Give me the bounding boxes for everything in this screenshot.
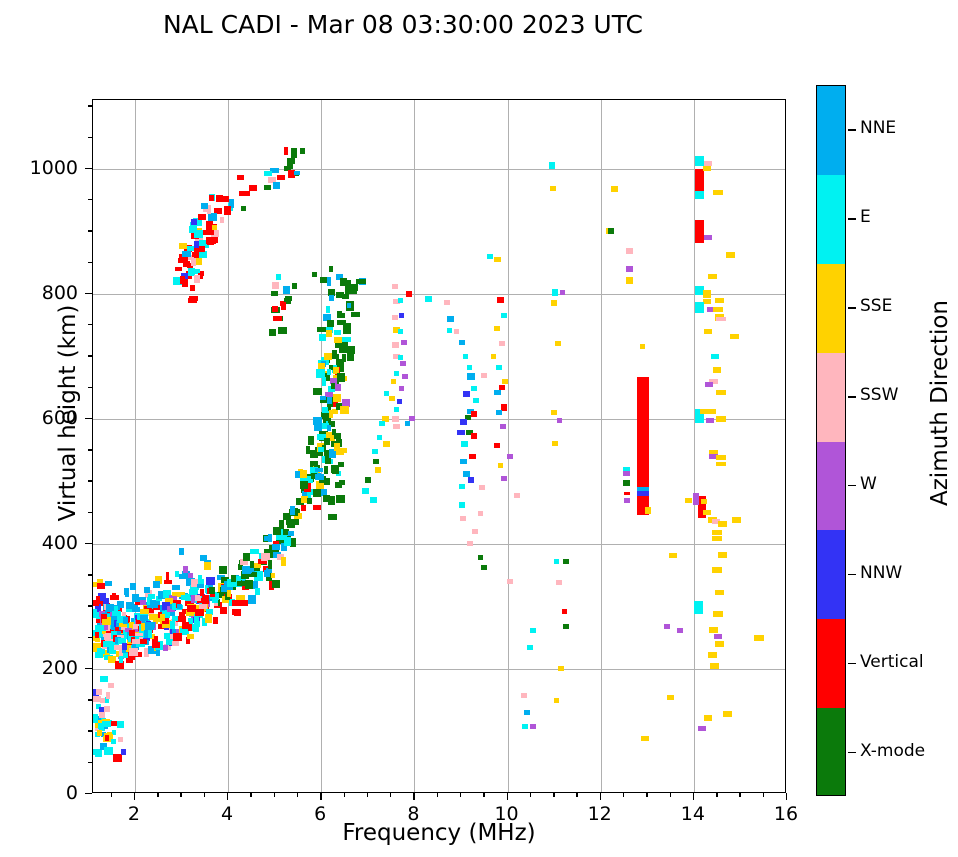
- data-point: [99, 712, 105, 718]
- y-tick: [88, 355, 92, 356]
- x-tick: [763, 793, 764, 797]
- data-point: [129, 648, 138, 656]
- data-point: [278, 327, 287, 334]
- data-point: [527, 645, 533, 650]
- data-point: [377, 435, 383, 440]
- data-point: [463, 354, 469, 359]
- data-point: [494, 443, 500, 448]
- y-tick: [88, 449, 92, 450]
- data-point: [255, 588, 259, 594]
- colorbar-label-e: E: [860, 207, 871, 227]
- y-tick: [88, 230, 92, 231]
- data-point: [160, 614, 164, 621]
- data-point: [272, 306, 278, 312]
- data-point: [469, 454, 476, 460]
- data-point: [97, 583, 105, 589]
- data-point: [268, 534, 272, 542]
- data-point: [372, 449, 378, 454]
- data-point: [156, 642, 160, 647]
- data-point: [105, 581, 113, 585]
- data-point: [624, 492, 631, 495]
- data-point: [499, 341, 505, 346]
- data-point: [331, 383, 336, 389]
- data-point: [347, 353, 353, 361]
- data-point: [562, 609, 568, 614]
- data-point: [709, 627, 717, 633]
- data-point: [551, 300, 558, 306]
- data-point: [400, 361, 406, 366]
- data-point: [530, 628, 536, 633]
- data-point: [284, 147, 288, 156]
- data-point: [144, 587, 150, 593]
- data-point: [472, 529, 478, 534]
- x-tick: [507, 793, 508, 800]
- data-point: [491, 354, 497, 359]
- y-tick: [88, 262, 92, 263]
- data-point: [471, 386, 477, 391]
- data-point: [276, 535, 284, 540]
- data-point: [716, 317, 725, 321]
- data-point: [117, 601, 124, 607]
- data-point: [173, 633, 182, 641]
- data-point: [695, 416, 703, 421]
- data-point: [558, 666, 564, 671]
- data-point: [204, 562, 211, 570]
- data-point: [467, 541, 473, 546]
- y-tick: [88, 480, 92, 481]
- data-point: [556, 580, 562, 585]
- y-tick: [88, 762, 92, 763]
- data-point: [704, 329, 712, 335]
- x-tick: [180, 793, 181, 797]
- data-point: [119, 656, 123, 663]
- data-point: [283, 286, 291, 294]
- data-point: [123, 617, 128, 624]
- data-point: [312, 272, 317, 277]
- data-point: [723, 711, 732, 717]
- data-point: [694, 601, 702, 614]
- y-tick: [88, 105, 92, 106]
- data-point: [467, 373, 474, 380]
- data-point: [313, 388, 322, 395]
- data-point: [179, 548, 183, 555]
- x-tick: [623, 793, 624, 797]
- y-tick: [88, 512, 92, 513]
- x-tick: [786, 793, 787, 800]
- y-tick: [88, 199, 92, 200]
- data-point: [754, 635, 764, 641]
- data-point: [623, 471, 630, 476]
- colorbar-segment-vertical[interactable]: [817, 619, 845, 708]
- data-point: [272, 282, 279, 289]
- data-point: [716, 455, 725, 461]
- data-point: [252, 572, 258, 577]
- data-point: [172, 603, 177, 611]
- data-point: [290, 506, 296, 514]
- data-point: [148, 594, 156, 599]
- data-point: [315, 468, 324, 473]
- data-point: [498, 463, 504, 468]
- data-point: [394, 407, 400, 412]
- data-point: [563, 559, 569, 564]
- data-point: [300, 481, 307, 490]
- colorbar-segment-nnw[interactable]: [817, 530, 845, 619]
- data-point: [496, 365, 502, 370]
- data-point: [190, 285, 194, 291]
- data-point: [245, 580, 253, 588]
- data-point: [212, 597, 218, 603]
- data-point: [334, 443, 340, 451]
- data-point: [250, 549, 259, 554]
- data-point: [140, 615, 148, 621]
- data-point: [182, 279, 188, 287]
- data-point: [405, 421, 411, 426]
- data-point: [227, 590, 231, 597]
- data-point: [191, 219, 197, 224]
- colorbar-label-vertical: Vertical: [860, 652, 924, 672]
- data-point: [392, 342, 399, 348]
- data-point: [481, 565, 487, 570]
- x-tick: [576, 793, 577, 797]
- data-point: [712, 536, 721, 541]
- data-point: [471, 433, 478, 439]
- colorbar-label-x-mode: X-mode: [860, 741, 925, 761]
- data-point: [121, 749, 126, 755]
- data-point: [640, 344, 646, 349]
- data-point: [560, 290, 566, 295]
- data-point: [467, 365, 473, 370]
- data-point: [554, 698, 560, 703]
- data-point: [124, 588, 128, 595]
- data-point: [554, 559, 560, 564]
- data-point: [334, 330, 341, 336]
- colorbar-label-sse: SSE: [860, 296, 892, 316]
- data-point: [494, 326, 500, 331]
- data-point: [703, 290, 711, 298]
- data-point: [669, 553, 676, 558]
- data-point: [701, 499, 708, 504]
- data-point: [713, 611, 722, 617]
- data-point: [645, 509, 652, 514]
- data-point: [306, 446, 310, 454]
- data-point: [461, 441, 468, 447]
- data-point: [118, 737, 123, 743]
- data-point: [322, 377, 326, 386]
- data-point: [108, 683, 114, 687]
- data-point: [317, 327, 325, 333]
- data-point: [502, 379, 508, 384]
- data-point: [471, 411, 478, 417]
- y-tick: [88, 605, 92, 606]
- data-point: [300, 148, 305, 154]
- data-point: [708, 652, 716, 658]
- data-point: [730, 334, 739, 340]
- data-point: [425, 296, 432, 302]
- data-point: [111, 739, 116, 744]
- data-point: [209, 195, 214, 200]
- data-point: [324, 466, 328, 474]
- x-tick: [437, 793, 438, 797]
- data-point: [552, 441, 558, 446]
- data-point: [563, 624, 569, 629]
- x-tick: [600, 793, 601, 800]
- data-point: [239, 191, 248, 196]
- data-point: [291, 148, 297, 155]
- data-point: [329, 266, 333, 272]
- data-point: [460, 419, 467, 425]
- x-tick: [227, 793, 228, 800]
- data-point: [307, 498, 312, 505]
- x-tick: [670, 793, 671, 797]
- data-point: [713, 307, 722, 313]
- colorbar-tick: [848, 218, 856, 220]
- data-point: [170, 621, 175, 630]
- y-tick: [88, 637, 92, 638]
- y-tick: [88, 387, 92, 388]
- data-point: [100, 676, 108, 682]
- data-point: [514, 493, 520, 498]
- data-point: [347, 303, 351, 308]
- data-point: [272, 544, 280, 550]
- data-point: [641, 736, 648, 741]
- data-point: [332, 466, 338, 473]
- data-point: [712, 567, 721, 573]
- data-point: [318, 447, 323, 453]
- gridline-vertical: [508, 100, 509, 792]
- colorbar-segment-sse[interactable]: [817, 264, 845, 353]
- data-point: [338, 462, 343, 467]
- data-point: [494, 257, 501, 263]
- data-point: [291, 519, 299, 525]
- x-tick: [413, 793, 414, 800]
- data-point: [337, 373, 345, 382]
- data-point: [392, 315, 399, 321]
- data-point: [249, 185, 257, 190]
- x-axis-label: Frequency (MHz): [92, 820, 786, 846]
- data-point: [705, 382, 713, 387]
- data-point: [213, 617, 218, 624]
- data-point: [342, 294, 349, 299]
- data-point: [626, 248, 633, 254]
- data-point: [398, 298, 404, 303]
- y-tick-label: 0: [8, 782, 78, 804]
- data-point: [102, 721, 110, 727]
- data-point: [623, 480, 630, 486]
- data-point: [325, 456, 330, 463]
- data-point: [163, 645, 168, 651]
- data-point: [196, 230, 204, 238]
- y-tick: [85, 418, 92, 419]
- data-point: [549, 162, 556, 169]
- data-point: [704, 235, 711, 239]
- y-tick-label: 1000: [8, 157, 78, 179]
- data-point: [104, 706, 111, 711]
- data-point: [320, 396, 326, 401]
- data-point: [351, 312, 360, 316]
- data-point: [104, 747, 112, 755]
- y-tick: [85, 793, 92, 794]
- data-point: [132, 594, 138, 602]
- data-point: [463, 471, 470, 477]
- data-point: [332, 350, 336, 356]
- data-point: [716, 462, 725, 466]
- data-point: [266, 568, 272, 573]
- data-point: [202, 595, 209, 604]
- data-point: [713, 190, 722, 196]
- data-point: [195, 609, 204, 616]
- data-point: [199, 246, 205, 252]
- data-point: [178, 258, 185, 263]
- data-point: [700, 409, 708, 414]
- data-point: [102, 619, 110, 625]
- data-point: [187, 246, 194, 251]
- data-point: [130, 583, 136, 590]
- data-point: [703, 510, 711, 515]
- data-point: [337, 320, 346, 324]
- data-point: [718, 552, 727, 558]
- data-point: [287, 163, 293, 168]
- data-point: [129, 630, 136, 635]
- x-tick: [274, 793, 275, 797]
- data-point: [198, 214, 206, 220]
- data-point: [268, 560, 272, 568]
- colorbar-segment-e[interactable]: [817, 175, 845, 264]
- data-point: [468, 477, 475, 483]
- y-tick: [88, 699, 92, 700]
- data-point: [164, 580, 172, 584]
- data-point: [93, 749, 97, 756]
- colorbar-segment-ssw[interactable]: [817, 353, 845, 442]
- data-point: [389, 396, 395, 401]
- data-point: [327, 396, 332, 404]
- data-point: [399, 386, 405, 391]
- colorbar-segment-x-mode[interactable]: [817, 708, 845, 796]
- data-point: [292, 283, 297, 289]
- data-point: [695, 169, 703, 192]
- data-point: [327, 320, 335, 327]
- data-point: [100, 698, 105, 703]
- gridline-horizontal: [93, 669, 785, 670]
- data-point: [326, 330, 332, 337]
- data-point: [384, 391, 390, 396]
- plot-area[interactable]: [92, 99, 786, 793]
- y-tick: [88, 324, 92, 325]
- data-point: [92, 696, 100, 702]
- data-point: [264, 185, 271, 190]
- y-tick: [88, 137, 92, 138]
- x-tick: [553, 793, 554, 797]
- gridline-vertical: [694, 100, 695, 792]
- data-point: [92, 714, 98, 723]
- data-point: [626, 277, 633, 284]
- data-point: [460, 516, 466, 521]
- data-point: [264, 171, 272, 176]
- data-point: [301, 505, 306, 511]
- x-tick: [646, 793, 647, 797]
- data-point: [447, 328, 453, 333]
- colorbar[interactable]: [816, 85, 846, 796]
- x-tick: [716, 793, 717, 797]
- data-point: [373, 459, 380, 465]
- data-point: [481, 373, 487, 378]
- data-point: [337, 313, 344, 318]
- data-point: [496, 410, 503, 416]
- data-point: [718, 521, 727, 527]
- data-point: [172, 585, 179, 591]
- data-point: [337, 361, 344, 367]
- data-point: [220, 217, 224, 223]
- y-tick: [85, 168, 92, 169]
- data-point: [237, 175, 244, 180]
- data-point: [459, 340, 466, 346]
- data-point: [175, 571, 180, 577]
- data-point: [281, 302, 286, 310]
- data-point: [105, 735, 110, 740]
- data-point: [324, 353, 332, 360]
- data-point: [463, 391, 470, 397]
- data-point: [323, 495, 330, 501]
- colorbar-label-ssw: SSW: [860, 385, 898, 405]
- data-point: [271, 291, 278, 296]
- data-point: [362, 488, 369, 494]
- data-point: [318, 363, 325, 368]
- data-point: [313, 417, 322, 425]
- data-point: [194, 275, 200, 283]
- data-point: [179, 243, 187, 249]
- gridline-vertical: [601, 100, 602, 792]
- data-point: [327, 277, 331, 286]
- data-point: [693, 493, 700, 504]
- data-point: [608, 228, 615, 234]
- data-point: [239, 600, 248, 606]
- data-point: [114, 606, 118, 614]
- colorbar-tick: [848, 396, 856, 398]
- x-tick: [344, 793, 345, 797]
- data-point: [667, 695, 674, 700]
- data-point: [500, 424, 506, 429]
- colorbar-tick: [848, 129, 856, 131]
- data-point: [276, 274, 281, 280]
- colorbar-segment-w[interactable]: [817, 442, 845, 531]
- data-point: [327, 369, 332, 374]
- data-point: [716, 416, 725, 422]
- data-point: [175, 267, 182, 272]
- data-point: [712, 530, 721, 536]
- data-point: [356, 279, 365, 284]
- data-point: [140, 609, 149, 615]
- data-point: [207, 238, 216, 245]
- data-point: [145, 622, 154, 629]
- data-point: [703, 166, 711, 171]
- data-point: [279, 520, 284, 529]
- data-point: [189, 296, 197, 302]
- data-point: [347, 280, 351, 287]
- data-point: [732, 517, 741, 523]
- data-point: [487, 254, 493, 259]
- data-point: [153, 581, 160, 588]
- colorbar-segment-nne[interactable]: [817, 86, 845, 175]
- data-point: [273, 182, 280, 189]
- data-point: [392, 284, 399, 290]
- data-point: [179, 612, 185, 619]
- x-tick: [250, 793, 251, 797]
- gridline-horizontal: [93, 419, 785, 420]
- data-point: [97, 730, 102, 736]
- data-point: [319, 334, 326, 341]
- data-point: [110, 721, 116, 726]
- page-title: NAL CADI - Mar 08 03:30:00 2023 UTC: [0, 10, 806, 39]
- data-point: [329, 295, 334, 301]
